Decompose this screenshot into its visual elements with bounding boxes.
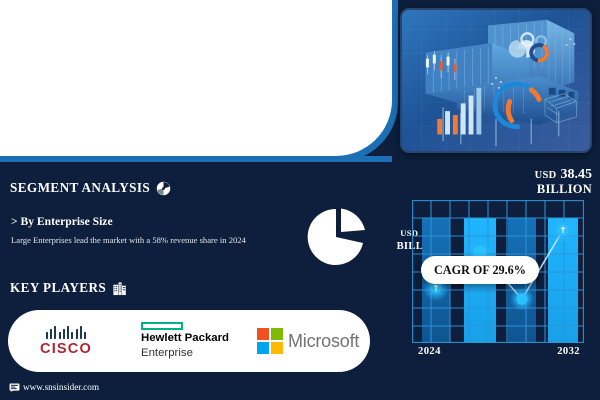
footer-url[interactable]: www.snsinsider.com	[23, 382, 99, 392]
hero-illustration	[402, 10, 590, 151]
hpe-wordmark-line2: Enterprise	[141, 347, 193, 360]
pie-analytics-icon	[156, 181, 171, 196]
axis-label-start: 2024	[418, 346, 441, 357]
logo-hpe[interactable]: Hewlett Packard Enterprise	[124, 310, 246, 372]
containers-illustration-icon	[402, 10, 590, 151]
chart-end-value-label: USD 38.45 BILLION	[535, 166, 592, 196]
pie-chart-icon	[305, 206, 367, 268]
footer[interactable]: www.snsinsider.com	[9, 382, 99, 392]
chart-axis-labels: 2024 2032	[412, 346, 584, 357]
cagr-badge: CAGR OF 29.6%	[421, 256, 539, 284]
segment-subheading: > By Enterprise Size	[11, 215, 113, 228]
end-value-unit: BILLION	[535, 183, 592, 196]
key-players-logo-strip: CISCO Hewlett Packard Enterprise Microso…	[8, 310, 370, 372]
key-players-label: KEY PLAYERS	[10, 280, 106, 296]
header-panel	[0, 0, 392, 156]
end-value-number: 38.45	[561, 167, 593, 182]
market-growth-chart: USD 38.45 BILLION USD 4.82 BILLION	[392, 166, 596, 394]
end-value-currency: USD	[535, 170, 557, 181]
microsoft-logo-icon	[257, 328, 283, 354]
cisco-wordmark: CISCO	[40, 341, 92, 357]
infographic-canvas: CONTAINERS AS A SERVICE MARKET The marke…	[0, 0, 600, 400]
logo-cisco[interactable]: CISCO	[8, 310, 124, 372]
cisco-logo-icon	[46, 326, 86, 339]
website-card-icon	[9, 383, 20, 392]
hpe-wordmark-line1: Hewlett Packard	[141, 332, 229, 345]
axis-label-end: 2032	[557, 346, 580, 357]
microsoft-wordmark: Microsoft	[288, 331, 359, 352]
key-players-heading: KEY PLAYERS	[10, 280, 127, 296]
building-icon	[112, 281, 127, 296]
segment-description: Large Enterprises lead the market with a…	[11, 235, 246, 245]
segment-analysis-heading: SEGMENT ANALYSIS	[10, 180, 171, 196]
hero-image-card	[400, 8, 592, 153]
segment-analysis-label: SEGMENT ANALYSIS	[10, 180, 150, 196]
logo-microsoft[interactable]: Microsoft	[246, 310, 370, 372]
segment-pie-chart	[305, 206, 367, 268]
header-accent-bar	[0, 156, 392, 162]
hpe-logo-icon	[141, 322, 183, 331]
